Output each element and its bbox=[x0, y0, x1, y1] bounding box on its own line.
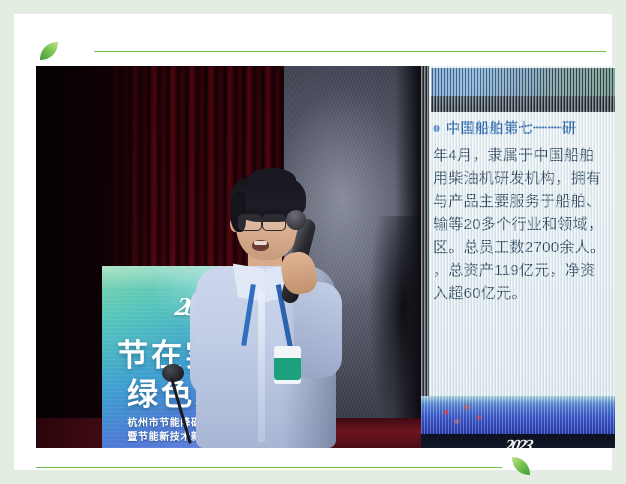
glasses-left-lens-icon bbox=[238, 214, 262, 231]
slide-bullet-row: 中国船舶第七一一研 bbox=[433, 118, 615, 138]
top-divider-rule bbox=[94, 51, 606, 52]
slide-line: ，总资产119亿元，净资 bbox=[433, 259, 615, 282]
speaker-teeth bbox=[254, 241, 267, 245]
slide-line: 区。总员工数2700余人。 bbox=[433, 236, 615, 259]
leaf-icon bbox=[510, 455, 532, 477]
page-root: 中国船舶第七一一研 年4月，隶属于中国船舶 用柴油机研发机构，拥有 与产品主要服… bbox=[0, 0, 626, 484]
slide-heading-text: 中国船舶第七一一研 bbox=[446, 118, 577, 138]
bottom-divider-rule bbox=[36, 467, 502, 468]
content-card: 中国船舶第七一一研 年4月，隶属于中国船舶 用柴油机研发机构，拥有 与产品主要服… bbox=[14, 14, 612, 470]
slide-footer-speckle bbox=[434, 402, 494, 428]
slide-line: 用柴油机研发机构，拥有 bbox=[433, 167, 615, 190]
glasses-right-lens-icon bbox=[262, 214, 286, 231]
conference-photo: 中国船舶第七一一研 年4月，隶属于中国船舶 用柴油机研发机构，拥有 与产品主要服… bbox=[36, 66, 615, 448]
speaker-right-sleeve bbox=[294, 282, 342, 378]
bullet-dot-icon bbox=[433, 125, 440, 132]
stage-lower-banner: 2023 节在实处·绿色发展 bbox=[421, 434, 615, 448]
slide-line: 与产品主要服务于船舶、 bbox=[433, 190, 615, 213]
slide-header-image-shadow bbox=[431, 96, 615, 112]
slide-line: 年4月，隶属于中国船舶 bbox=[433, 144, 615, 167]
speaker-shirt-placket bbox=[258, 292, 265, 442]
lower-banner-logo: 2023 bbox=[503, 436, 533, 448]
glasses-bridge bbox=[260, 220, 264, 222]
speaker-hair-top bbox=[248, 168, 296, 192]
leaf-icon bbox=[38, 40, 60, 62]
screen-left-edge bbox=[421, 66, 429, 396]
slide-line: 入超60亿元。 bbox=[433, 282, 615, 305]
speaker-figure bbox=[186, 166, 376, 448]
speaker-badge-band bbox=[274, 358, 301, 380]
slide-text-body: 中国船舶第七一一研 年4月，隶属于中国船舶 用柴油机研发机构，拥有 与产品主要服… bbox=[429, 118, 615, 305]
slide-line: 输等20多个行业和领域， bbox=[433, 213, 615, 236]
projection-screen: 中国船舶第七一一研 年4月，隶属于中国船舶 用柴油机研发机构，拥有 与产品主要服… bbox=[421, 66, 615, 396]
